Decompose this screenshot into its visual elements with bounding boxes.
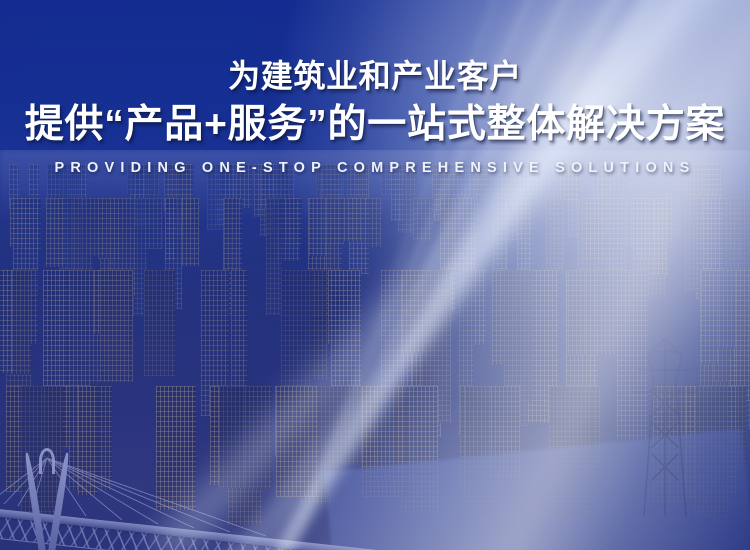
headline-block: 为建筑业和产业客户 提供“产品+服务”的一站式整体解决方案 PROVIDING … <box>0 0 750 190</box>
headline-subtitle: PROVIDING ONE-STOP COMPREHENSIVE SOLUTIO… <box>0 160 750 176</box>
hero-banner: 为建筑业和产业客户 提供“产品+服务”的一站式整体解决方案 PROVIDING … <box>0 0 750 550</box>
headline-line-1: 为建筑业和产业客户 <box>0 0 750 92</box>
headline-line-2: 提供“产品+服务”的一站式整体解决方案 <box>0 92 750 144</box>
